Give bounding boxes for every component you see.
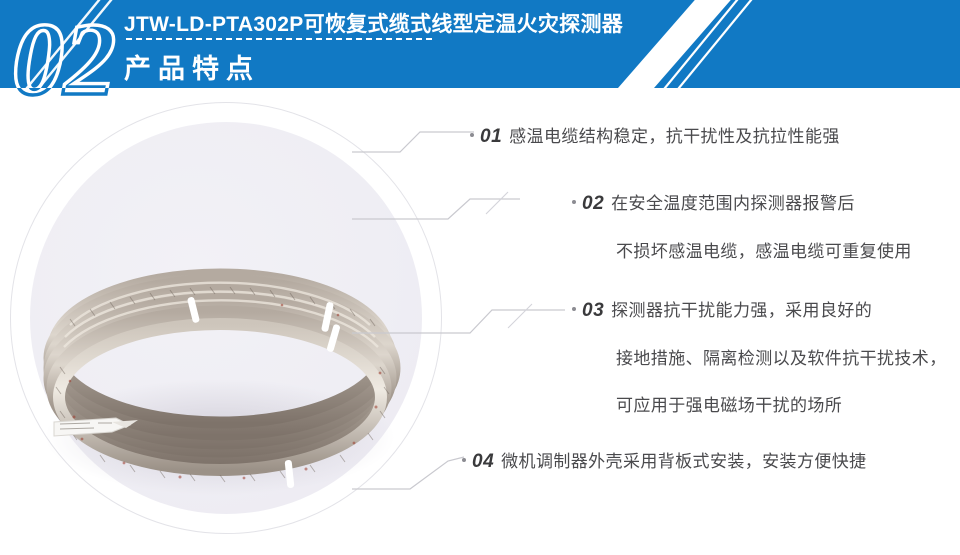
connector-accent-3 (508, 304, 532, 328)
bullet-dot-icon (572, 307, 576, 311)
feature-number: 02 (582, 193, 604, 214)
header-divider (126, 38, 432, 40)
feature-number: 04 (472, 451, 494, 472)
feature-item-1: 01感温电缆结构稳定，抗干扰性及抗拉性能强 (470, 122, 840, 148)
product-cable-illustration: #8d8279 0 (8, 92, 460, 547)
bullet-dot-icon (572, 200, 576, 204)
product-image-panel: #8d8279 0 (8, 92, 460, 547)
feature-item-3: 03探测器抗干扰能力强，采用良好的 接地措施、隔离检测以及软件抗干扰技术， 可应… (572, 296, 947, 416)
header-title: JTW-LD-PTA302P可恢复式缆式线型定温火灾探测器 (124, 8, 623, 38)
feature-text-line-1: 微机调制器外壳采用背板式安装，安装方便快捷 (501, 452, 866, 471)
feature-number: 03 (582, 300, 604, 321)
feature-item-2: 02在安全温度范围内探测器报警后 不损坏感温电缆，感温电缆可重复使用 (572, 189, 912, 262)
header-subtitle: 产品特点 (124, 47, 260, 86)
feature-item-4: 04微机调制器外壳采用背板式安装，安装方便快捷 (462, 447, 867, 473)
feature-text-line-1: 探测器抗干扰能力强，采用良好的 (611, 301, 872, 320)
connector-accent-2 (486, 192, 508, 214)
feature-text-line-2: 不损坏感温电缆，感温电缆可重复使用 (616, 237, 912, 262)
feature-text-line-1: 在安全温度范围内探测器报警后 (611, 194, 855, 213)
feature-text-line-3: 可应用于强电磁场干扰的场所 (616, 391, 947, 416)
page-header: JTW-LD-PTA302P可恢复式缆式线型定温火灾探测器 产品特点 (0, 0, 960, 88)
bullet-dot-icon (470, 133, 474, 137)
feature-text-line-1: 感温电缆结构稳定，抗干扰性及抗拉性能强 (509, 127, 840, 146)
bullet-dot-icon (462, 458, 466, 462)
feature-text-line-2: 接地措施、隔离检测以及软件抗干扰技术， (616, 344, 947, 369)
feature-number: 01 (480, 126, 502, 147)
